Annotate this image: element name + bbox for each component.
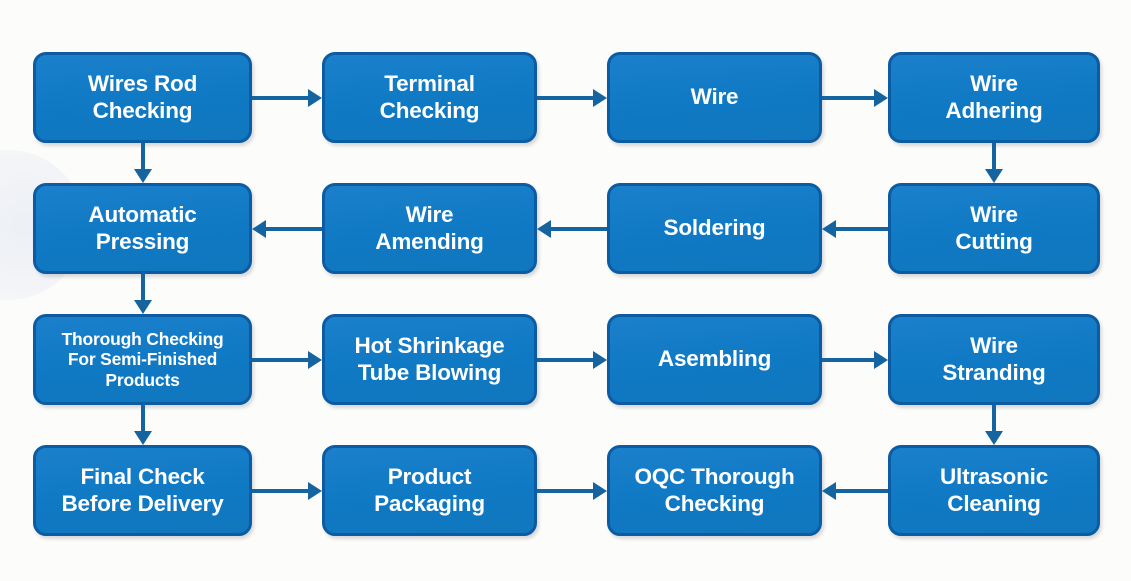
process-node-wire-stranding[interactable]: Wire Stranding bbox=[888, 314, 1100, 405]
arrow-head bbox=[593, 482, 607, 500]
arrow-shaft bbox=[537, 358, 596, 362]
process-node-label: Automatic Pressing bbox=[88, 202, 196, 254]
arrow-head bbox=[308, 89, 322, 107]
arrow-shaft bbox=[141, 143, 145, 172]
process-node-label: Soldering bbox=[664, 215, 766, 241]
arrow-head bbox=[822, 482, 836, 500]
arrow-wire-adhering-to-wire-cutting bbox=[983, 143, 1005, 183]
process-node-label: OQC Thorough Checking bbox=[634, 464, 794, 516]
arrow-head bbox=[308, 482, 322, 500]
arrow-shaft bbox=[833, 489, 888, 493]
arrow-head bbox=[874, 89, 888, 107]
process-node-asembling[interactable]: Asembling bbox=[607, 314, 822, 405]
arrow-shaft bbox=[822, 96, 877, 100]
arrow-head bbox=[985, 169, 1003, 183]
process-node-final-check[interactable]: Final Check Before Delivery bbox=[33, 445, 252, 536]
process-node-label: Final Check Before Delivery bbox=[61, 464, 223, 516]
process-node-label: Ultrasonic Cleaning bbox=[940, 464, 1048, 516]
arrow-wire-amending-to-automatic-pressing bbox=[252, 218, 322, 240]
process-node-wires-rod-checking[interactable]: Wires Rod Checking bbox=[33, 52, 252, 143]
arrow-shaft bbox=[548, 227, 607, 231]
arrow-wire-stranding-to-ultrasonic-cleaning bbox=[983, 405, 1005, 445]
process-node-label: Wire Adhering bbox=[945, 71, 1042, 123]
process-node-label: Wires Rod Checking bbox=[88, 71, 197, 123]
arrow-head bbox=[985, 431, 1003, 445]
process-node-label: Wire Cutting bbox=[955, 202, 1032, 254]
arrow-shaft bbox=[822, 358, 877, 362]
arrow-head bbox=[308, 351, 322, 369]
arrow-automatic-pressing-to-thorough-checking bbox=[132, 274, 154, 314]
arrow-shaft bbox=[992, 143, 996, 172]
arrow-asembling-to-wire-stranding bbox=[822, 349, 888, 371]
arrow-wire-cutting-to-soldering bbox=[822, 218, 888, 240]
process-node-thorough-checking[interactable]: Thorough Checking For Semi-Finished Prod… bbox=[33, 314, 252, 405]
arrow-shaft bbox=[252, 489, 311, 493]
process-node-label: Product Packaging bbox=[374, 464, 485, 516]
arrow-head bbox=[134, 169, 152, 183]
arrow-shaft bbox=[537, 96, 596, 100]
arrow-thorough-checking-to-hot-shrinkage bbox=[252, 349, 322, 371]
process-node-wire-cutting[interactable]: Wire Cutting bbox=[888, 183, 1100, 274]
arrow-shaft bbox=[992, 405, 996, 434]
process-node-label: Wire Amending bbox=[375, 202, 483, 254]
arrow-head bbox=[537, 220, 551, 238]
arrow-product-packaging-to-oqc-thorough-checking bbox=[537, 480, 607, 502]
arrow-head bbox=[134, 431, 152, 445]
process-node-terminal-checking[interactable]: Terminal Checking bbox=[322, 52, 537, 143]
arrow-terminal-checking-to-wire bbox=[537, 87, 607, 109]
process-node-label: Wire Stranding bbox=[942, 333, 1045, 385]
process-node-label: Thorough Checking For Semi-Finished Prod… bbox=[62, 329, 224, 390]
arrow-shaft bbox=[141, 405, 145, 434]
arrow-shaft bbox=[833, 227, 888, 231]
arrow-hot-shrinkage-to-asembling bbox=[537, 349, 607, 371]
process-node-label: Hot Shrinkage Tube Blowing bbox=[355, 333, 505, 385]
process-node-label: Wire bbox=[691, 84, 739, 110]
arrow-shaft bbox=[537, 489, 596, 493]
process-node-wire[interactable]: Wire bbox=[607, 52, 822, 143]
flowchart-canvas: Wires Rod CheckingTerminal CheckingWireW… bbox=[0, 0, 1131, 581]
arrow-head bbox=[134, 300, 152, 314]
arrow-wires-rod-checking-to-automatic-pressing bbox=[132, 143, 154, 183]
process-node-product-packaging[interactable]: Product Packaging bbox=[322, 445, 537, 536]
arrow-final-check-to-product-packaging bbox=[252, 480, 322, 502]
arrow-wire-to-wire-adhering bbox=[822, 87, 888, 109]
arrow-thorough-checking-to-final-check bbox=[132, 405, 154, 445]
arrow-soldering-to-wire-amending bbox=[537, 218, 607, 240]
arrow-shaft bbox=[252, 96, 311, 100]
arrow-ultrasonic-cleaning-to-oqc-thorough-checking bbox=[822, 480, 888, 502]
arrow-shaft bbox=[252, 358, 311, 362]
arrow-head bbox=[593, 351, 607, 369]
arrow-head bbox=[593, 89, 607, 107]
process-node-ultrasonic-cleaning[interactable]: Ultrasonic Cleaning bbox=[888, 445, 1100, 536]
arrow-head bbox=[252, 220, 266, 238]
arrow-wires-rod-checking-to-terminal-checking bbox=[252, 87, 322, 109]
process-node-wire-adhering[interactable]: Wire Adhering bbox=[888, 52, 1100, 143]
process-node-hot-shrinkage[interactable]: Hot Shrinkage Tube Blowing bbox=[322, 314, 537, 405]
process-node-soldering[interactable]: Soldering bbox=[607, 183, 822, 274]
arrow-head bbox=[874, 351, 888, 369]
process-node-label: Terminal Checking bbox=[380, 71, 480, 123]
process-node-automatic-pressing[interactable]: Automatic Pressing bbox=[33, 183, 252, 274]
process-node-oqc-thorough-checking[interactable]: OQC Thorough Checking bbox=[607, 445, 822, 536]
process-node-label: Asembling bbox=[658, 346, 771, 372]
arrow-shaft bbox=[263, 227, 322, 231]
process-node-wire-amending[interactable]: Wire Amending bbox=[322, 183, 537, 274]
arrow-shaft bbox=[141, 274, 145, 303]
arrow-head bbox=[822, 220, 836, 238]
